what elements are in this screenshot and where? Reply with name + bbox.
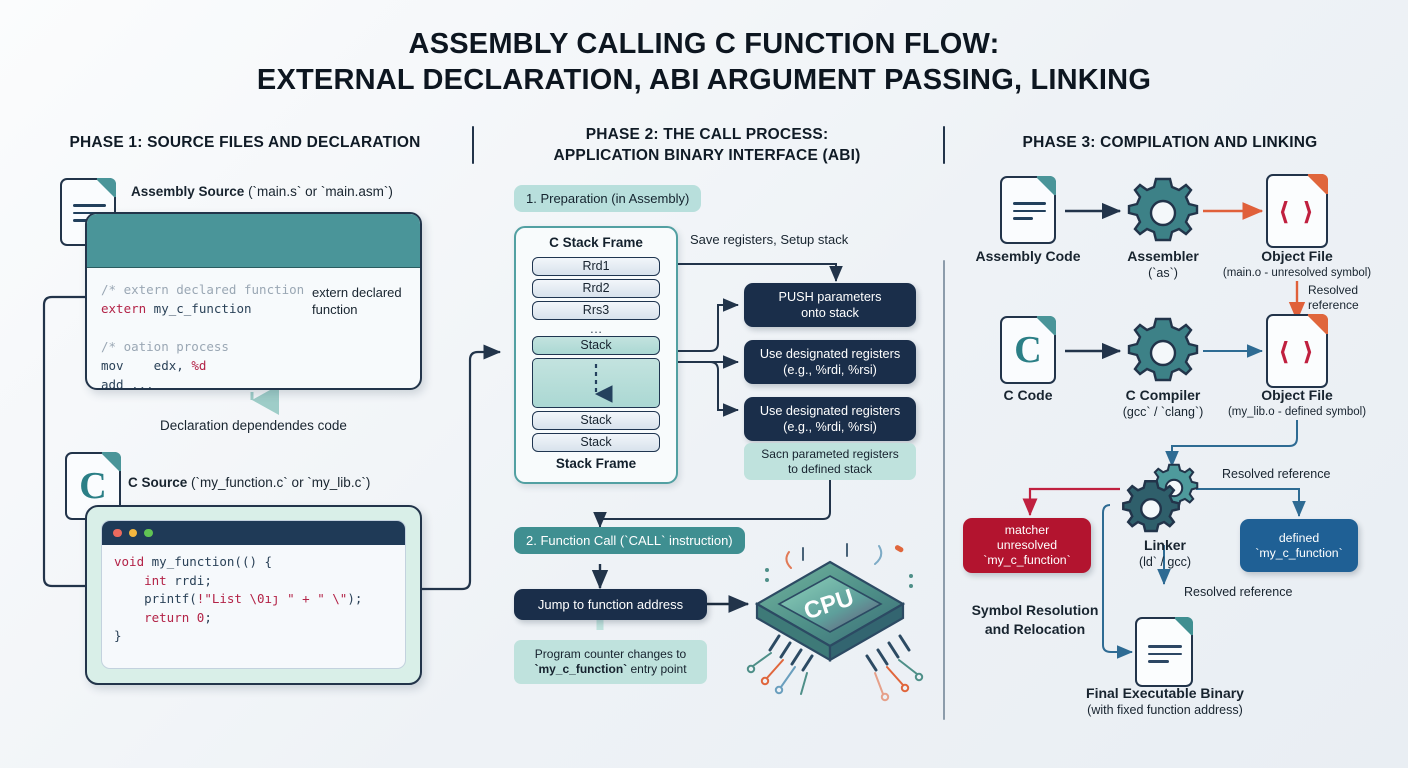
final-executable-sublabel: (with fixed function address) — [1059, 703, 1271, 718]
pc-note-line-1: Program counter changes to — [535, 647, 686, 662]
step-2-function-call-pill: 2. Function Call (`CALL` instruction) — [514, 527, 745, 554]
phase1-header: PHASE 1: SOURCE FILES AND DECLARATION — [30, 132, 460, 153]
page-title: ASSEMBLY CALLING C FUNCTION FLOW: EXTERN… — [0, 26, 1408, 98]
stack-ellipsis: … — [516, 323, 676, 334]
action-use-registers-2: Use designated registers (e.g., %rdi, %r… — [744, 397, 916, 441]
angle-brackets-icon: ⟨ ⟩ — [1268, 316, 1326, 386]
final-executable-file-icon — [1135, 617, 1193, 687]
asm-mov-line: mov edx, — [101, 358, 191, 373]
divider-phase2-phase3 — [943, 126, 945, 164]
asm-comment-1: /* extern declared function — [101, 282, 304, 297]
c-compiler-gear-icon — [1125, 315, 1201, 396]
phase2-header-line-2: APPLICATION BINARY INTERFACE (ABI) — [553, 147, 860, 164]
phase2-header-line-1: PHASE 2: THE CALL PROCESS: — [586, 126, 829, 143]
stack-slot-register: Rrd1 — [532, 257, 660, 276]
linker-gear-large-icon — [1120, 478, 1182, 545]
document-lines-icon — [1148, 645, 1182, 668]
program-counter-note: Program counter changes to `my_c_functio… — [514, 640, 707, 684]
assembly-source-label-rest: (`main.s` or `main.asm`) — [244, 184, 393, 199]
object-file-lib-label: Object File — [1232, 388, 1362, 403]
asm-comment-2: /* oation process — [101, 339, 229, 354]
assembler-label: Assembler — [1098, 249, 1228, 264]
resolved-reference-label-3: Resolved reference — [1184, 585, 1292, 600]
declaration-dependency-note: Declaration dependendes code — [85, 418, 422, 433]
asm-add-line: add ... — [101, 377, 154, 390]
action-push-parameters: PUSH parameters onto stack — [744, 283, 916, 327]
step-1-preparation-pill: 1. Preparation (in Assembly) — [514, 185, 701, 212]
page-fold-corner — [1035, 176, 1056, 197]
assembly-code-file-icon — [1000, 176, 1056, 244]
assembly-card-header-bar — [87, 214, 420, 268]
c-kw-void: void — [114, 554, 144, 569]
pc-note-function: `my_c_function` entry point — [534, 662, 686, 677]
extern-annotation: extern declared function — [312, 284, 432, 318]
cpu-chip-icon: CPU — [735, 540, 925, 705]
asm-keyword-extern: extern — [101, 301, 146, 316]
window-maximize-dot-icon[interactable] — [144, 529, 153, 538]
save-registers-label: Save registers, Setup stack — [690, 232, 848, 247]
c-letter-icon: C — [1002, 318, 1054, 382]
c-string-literal: !"List \0ıȷ " + " \" — [197, 591, 348, 606]
c-kw-int: int — [144, 573, 167, 588]
c-source-label-rest: (`my_function.c` or `my_lib.c`) — [187, 475, 370, 490]
c-source-label-bold: C Source — [128, 475, 187, 490]
defined-symbol-box: defined `my_c_function` — [1240, 519, 1358, 572]
unresolved-symbol-box: matcher unresolved `my_c_function` — [963, 518, 1091, 573]
asm-symbol-name: my_c_function — [146, 301, 251, 316]
stack-frame-title: C Stack Frame — [516, 235, 676, 250]
divider-phase2-phase3-long — [943, 260, 945, 720]
phase3-header: PHASE 3: COMPILATION AND LINKING — [955, 132, 1385, 153]
object-file-main-label: Object File — [1232, 249, 1362, 264]
jump-to-function-address-box: Jump to function address — [514, 589, 707, 620]
action-scan-note: Sacn parameted registers to defined stac… — [744, 443, 916, 480]
final-executable-label: Final Executable Binary — [1059, 686, 1271, 701]
assembly-source-label-bold: Assembly Source — [131, 184, 244, 199]
document-lines-icon — [1013, 202, 1046, 225]
c-code-label: C Code — [963, 388, 1093, 403]
title-line-2: EXTERNAL DECLARATION, ABI ARGUMENT PASSI… — [0, 62, 1408, 98]
angle-brackets-icon: ⟨ ⟩ — [1268, 176, 1326, 246]
c-return-value: 0 — [197, 610, 205, 625]
stack-slot-register: Rrd2 — [532, 279, 660, 298]
object-file-main-icon: ⟨ ⟩ — [1266, 174, 1328, 248]
stack-slot-row: Stack — [532, 433, 660, 452]
stack-direction-arrow-icon — [589, 364, 603, 404]
divider-phase1-phase2 — [472, 126, 474, 164]
object-file-lib-sublabel: (my_lib.o - defined symbol) — [1207, 405, 1387, 420]
object-file-lib-icon: ⟨ ⟩ — [1266, 314, 1328, 388]
stack-slot-register: Rrs3 — [532, 301, 660, 320]
c-source-card: void my_function(() { int rrdi; printf(!… — [85, 505, 422, 685]
page-fold-corner — [95, 178, 116, 199]
c-compiler-label: C Compiler — [1098, 388, 1228, 403]
linker-label: Linker — [1100, 538, 1230, 553]
c-kw-return: return — [144, 610, 189, 625]
c-source-editor: void my_function(() { int rrdi; printf(!… — [101, 520, 406, 669]
cpu-chip-illustration: CPU — [735, 540, 925, 705]
resolved-reference-label-2: Resolved reference — [1222, 467, 1330, 482]
asm-mov-immediate: %d — [191, 358, 206, 373]
c-code-block: void my_function(() { int rrdi; printf(!… — [102, 545, 405, 654]
stack-slot-top: Stack — [532, 336, 660, 355]
phase2-header: PHASE 2: THE CALL PROCESS: APPLICATION B… — [487, 124, 927, 166]
window-close-dot-icon[interactable] — [113, 529, 122, 538]
title-line-1: ASSEMBLY CALLING C FUNCTION FLOW: — [409, 28, 1000, 60]
symbol-resolution-caption: Symbol Resolution and Relocation — [955, 601, 1115, 639]
window-minimize-dot-icon[interactable] — [129, 529, 138, 538]
stack-frame-footer: Stack Frame — [516, 456, 676, 471]
resolved-reference-label-1: Resolved reference — [1308, 283, 1359, 313]
assembly-code-label: Assembly Code — [963, 249, 1093, 264]
c-source-label: C Source (`my_function.c` or `my_lib.c`) — [128, 475, 370, 490]
object-file-main-sublabel: (main.o - unresolved symbol) — [1207, 266, 1387, 281]
c-code-file-icon: C — [1000, 316, 1056, 384]
c-stack-frame-card: C Stack Frame Rrd1 Rrd2 Rrs3 … Stack Sta… — [514, 226, 678, 484]
stack-growth-region — [532, 358, 660, 408]
assembler-gear-icon — [1125, 175, 1201, 256]
linker-sublabel: (ld` / gcc) — [1100, 555, 1230, 570]
stack-slot-row: Stack — [532, 411, 660, 430]
action-use-registers-1: Use designated registers (e.g., %rdi, %r… — [744, 340, 916, 384]
assembly-source-label: Assembly Source (`main.s` or `main.asm`) — [131, 184, 393, 199]
page-fold-corner — [1173, 617, 1193, 637]
editor-titlebar — [102, 521, 405, 545]
